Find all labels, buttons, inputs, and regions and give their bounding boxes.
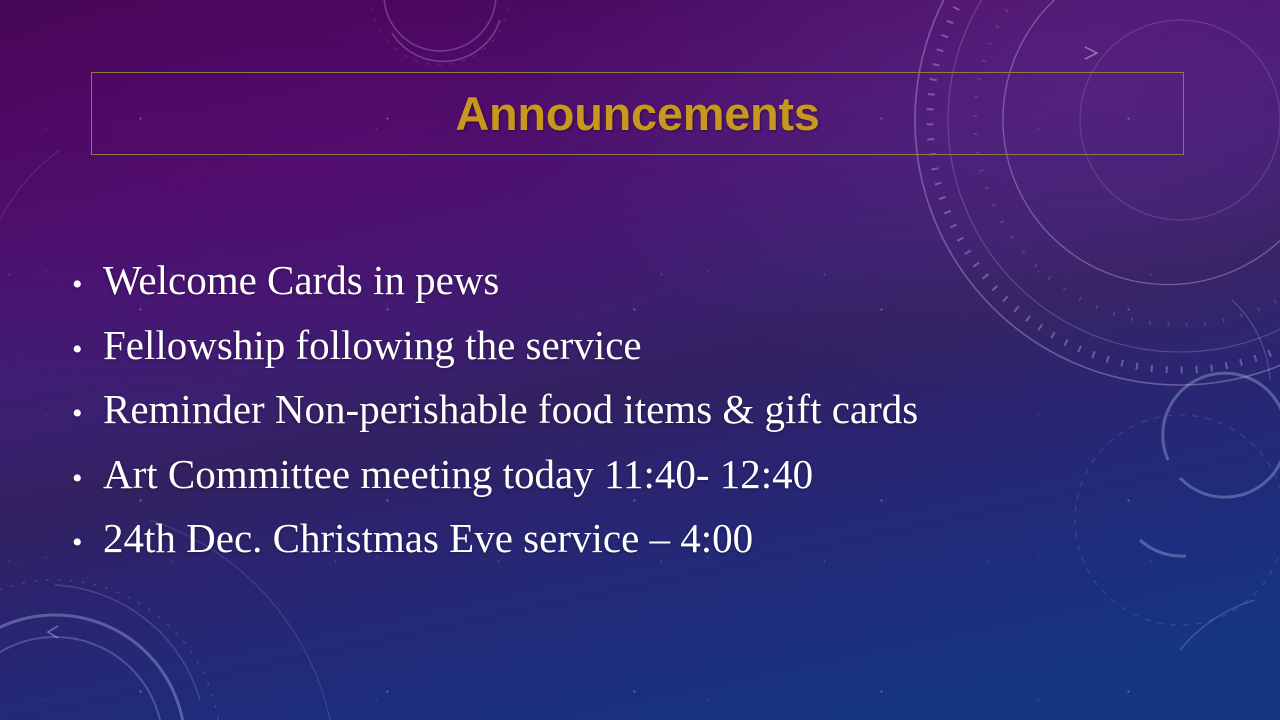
bullet-dot-icon: • (72, 447, 103, 512)
list-item: • 24th Dec. Christmas Eve service – 4:00 (72, 506, 1222, 571)
list-item-label: 24th Dec. Christmas Eve service – 4:00 (103, 506, 1222, 571)
hud-circle-top-center (370, 0, 510, 65)
hud-arc-left (0, 150, 60, 300)
bullet-dot-icon: • (72, 382, 103, 447)
bullet-dot-icon: • (72, 253, 103, 318)
list-item: • Welcome Cards in pews (72, 248, 1222, 313)
announcements-list: • Welcome Cards in pews • Fellowship fol… (72, 248, 1222, 571)
list-item-label: Art Committee meeting today 11:40- 12:40 (103, 442, 1222, 507)
bullet-dot-icon: • (72, 318, 103, 383)
list-item-label: Reminder Non-perishable food items & gif… (103, 377, 1222, 442)
hud-marker-bottom-left (48, 626, 136, 720)
title-frame: Announcements (91, 72, 1184, 155)
list-item: • Reminder Non-perishable food items & g… (72, 377, 1222, 442)
list-item: • Fellowship following the service (72, 313, 1222, 378)
list-item-label: Fellowship following the service (103, 313, 1222, 378)
hud-circle-bottom-left (0, 580, 220, 720)
bullet-dot-icon: • (72, 511, 103, 576)
list-item-label: Welcome Cards in pews (103, 248, 1222, 313)
page-title: Announcements (455, 86, 819, 141)
hud-marker-top-right (1085, 47, 1097, 59)
list-item: • Art Committee meeting today 11:40- 12:… (72, 442, 1222, 507)
presentation-slide: Announcements • Welcome Cards in pews • … (0, 0, 1280, 720)
